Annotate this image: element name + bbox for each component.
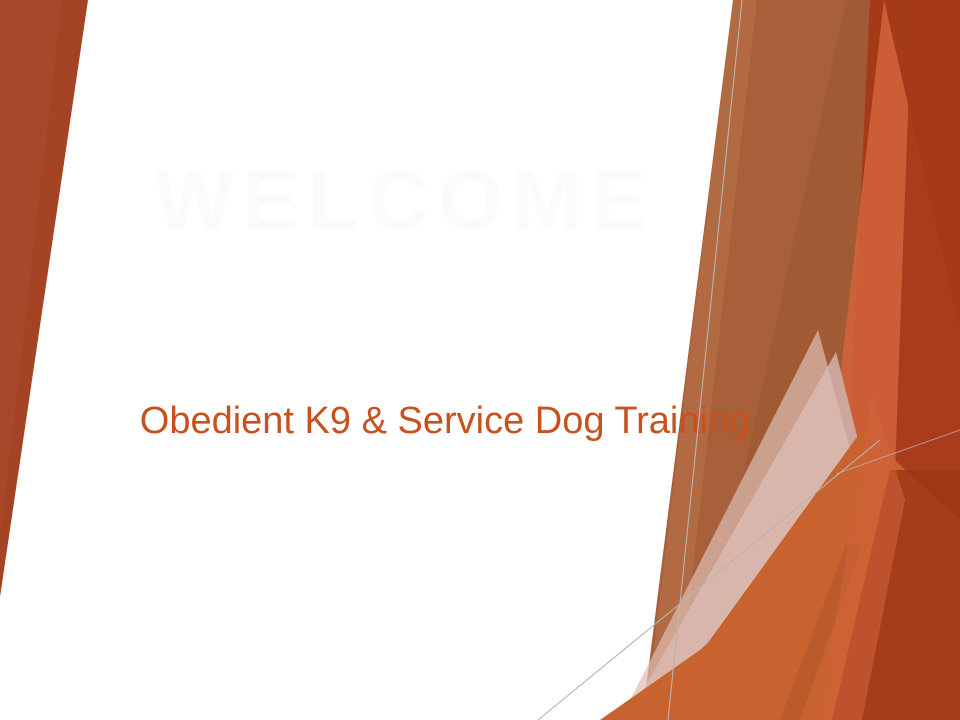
slide-subtitle: Obedient K9 & Service Dog Training (0, 399, 890, 444)
presentation-slide: WELCOME Obedient K9 & Service Dog Traini… (0, 0, 960, 720)
slide-text-layer: WELCOME Obedient K9 & Service Dog Traini… (0, 0, 960, 720)
page-title: WELCOME (0, 158, 810, 242)
